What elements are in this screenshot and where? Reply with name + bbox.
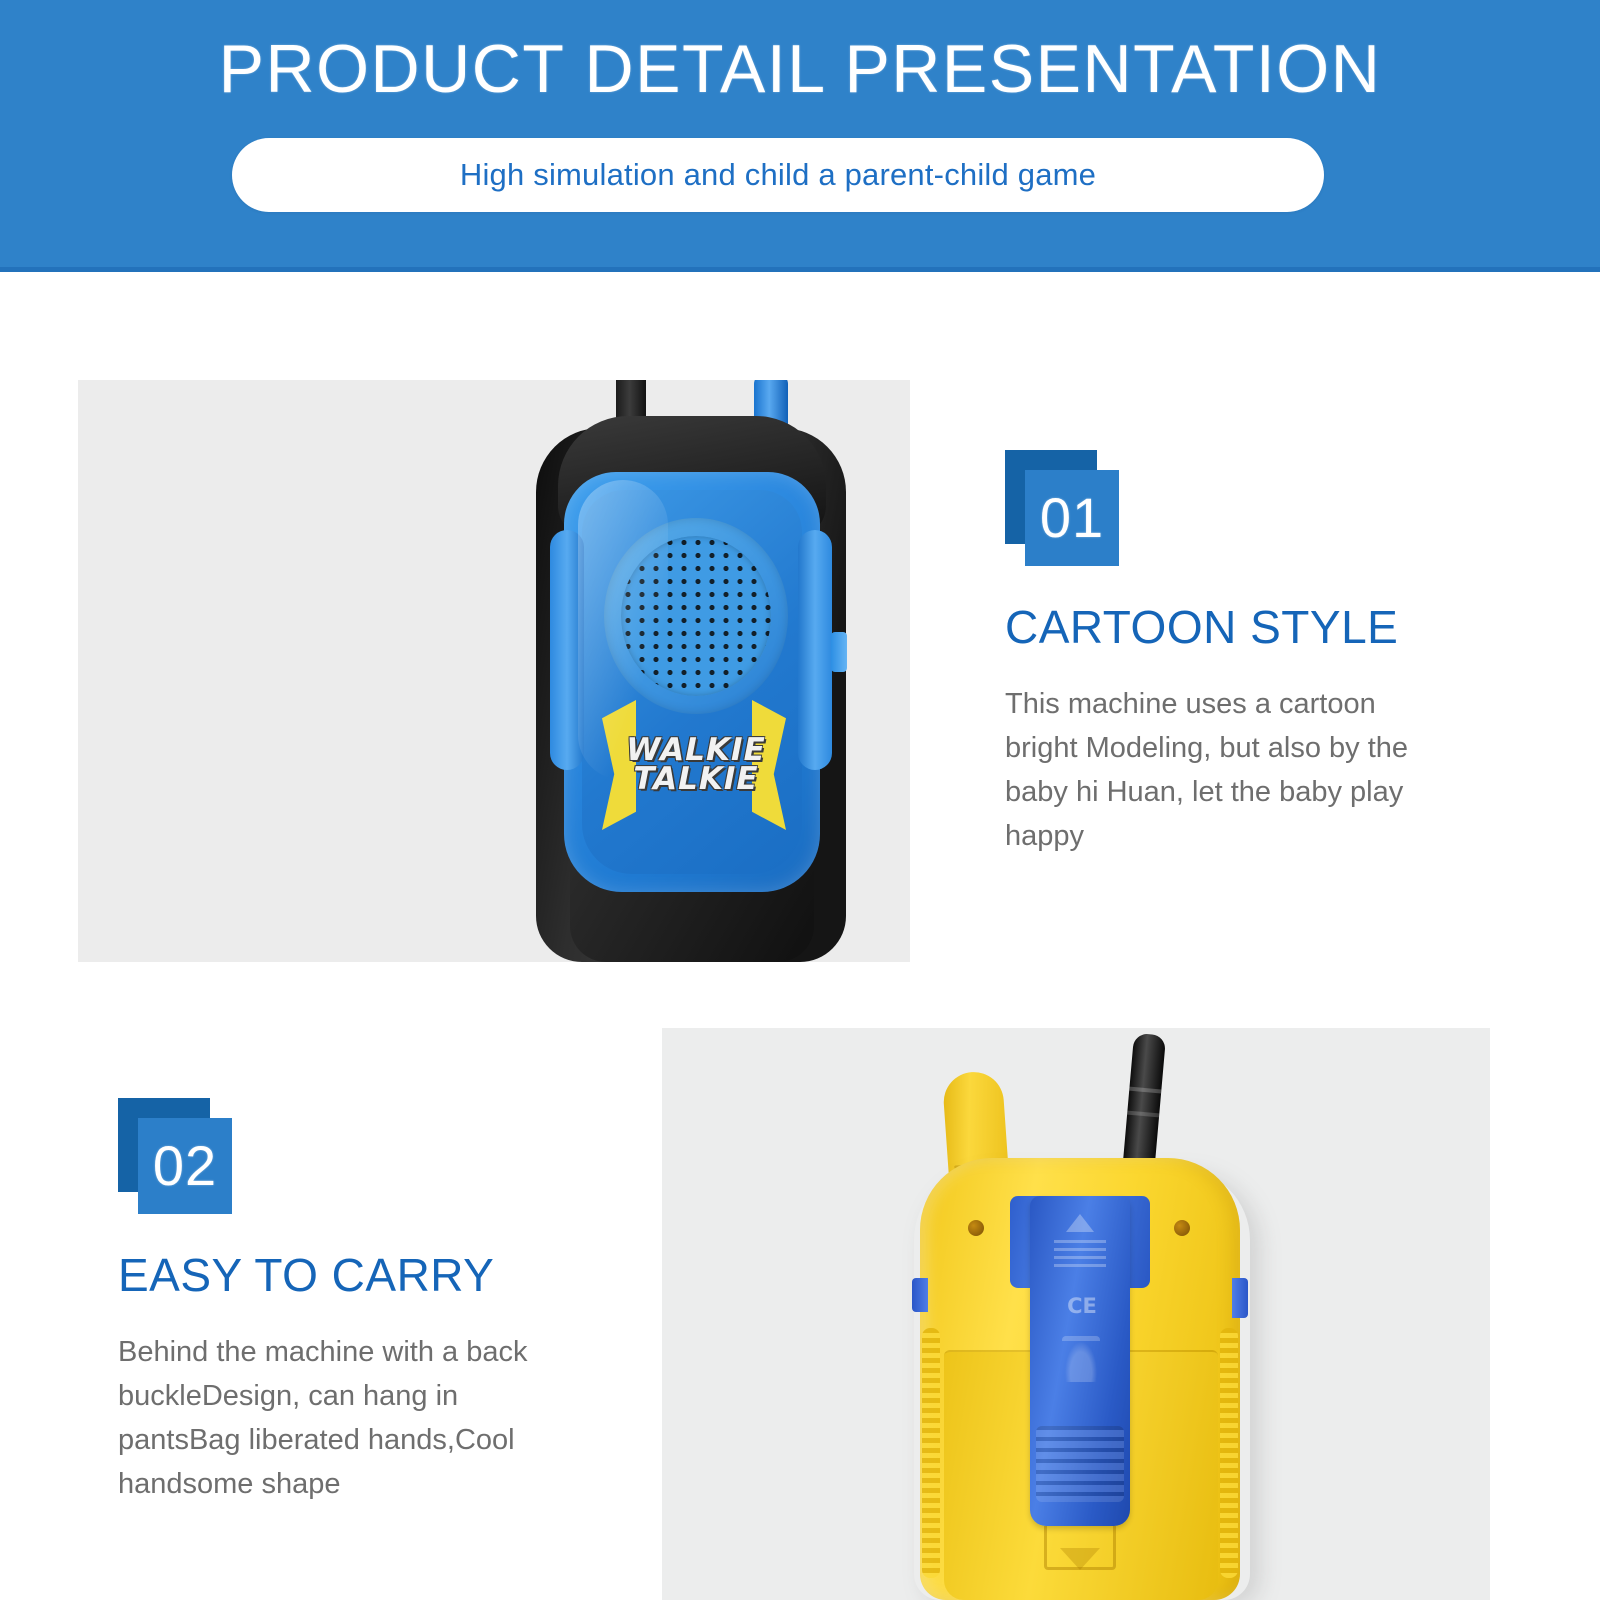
side-grip-right xyxy=(1220,1328,1238,1578)
yellow-walkie-talkie-illustration: CE xyxy=(884,1028,1314,1600)
subtitle-text: High simulation and child a parent-child… xyxy=(460,157,1096,193)
page-header: PRODUCT DETAIL PRESENTATION High simulat… xyxy=(0,0,1600,272)
product-logo-line2: TALKIE xyxy=(596,765,796,794)
screw-left-icon xyxy=(968,1220,984,1236)
feature-body-01: This machine uses a cartoon bright Model… xyxy=(1005,682,1455,858)
feature-body-02: Behind the machine with a back buckleDes… xyxy=(118,1330,538,1506)
side-button-right xyxy=(1232,1278,1248,1318)
product-photo-blue-walkie-talkie: WALKIE TALKIE xyxy=(78,380,910,962)
clip-ridge-bars xyxy=(1054,1240,1106,1270)
side-button xyxy=(831,632,847,672)
ce-marking-icon: CE xyxy=(1056,1294,1108,1318)
feature-number-badge-01: 01 xyxy=(1005,450,1119,566)
speaker-bezel xyxy=(604,518,788,714)
screw-right-icon xyxy=(1174,1220,1190,1236)
black-antenna-icon xyxy=(1122,1033,1166,1177)
speaker-grille-icon xyxy=(621,536,771,696)
subtitle-pill: High simulation and child a parent-child… xyxy=(232,138,1324,212)
antenna-segment xyxy=(1127,1111,1159,1118)
open-direction-arrow-icon xyxy=(1060,1548,1100,1570)
page-title: PRODUCT DETAIL PRESENTATION xyxy=(0,30,1600,108)
side-button-left xyxy=(912,1278,928,1312)
feature-heading-02: EASY TO CARRY xyxy=(118,1248,588,1302)
clip-triangle-icon xyxy=(1066,1214,1094,1232)
feature-block-02: 02 EASY TO CARRY Behind the machine with… xyxy=(118,1098,588,1506)
product-photo-yellow-walkie-talkie: CE xyxy=(662,1028,1490,1600)
waste-bin-symbol-icon xyxy=(1062,1336,1100,1382)
badge-front-square: 01 xyxy=(1025,470,1119,566)
badge-number: 01 xyxy=(1040,490,1104,546)
faceplate-rail-right xyxy=(798,530,832,770)
badge-number: 02 xyxy=(153,1138,217,1194)
feature-block-01: 01 CARTOON STYLE This machine uses a car… xyxy=(1005,450,1475,858)
product-logo: WALKIE TALKIE xyxy=(596,736,796,795)
faceplate-rail-left xyxy=(550,530,584,770)
blue-walkie-talkie-illustration: WALKIE TALKIE xyxy=(486,380,906,962)
side-grip-left xyxy=(922,1328,940,1578)
feature-heading-01: CARTOON STYLE xyxy=(1005,600,1475,654)
antenna-segment xyxy=(1129,1087,1161,1094)
badge-front-square: 02 xyxy=(138,1118,232,1214)
feature-number-badge-02: 02 xyxy=(118,1098,232,1214)
clip-grip-ridges xyxy=(1036,1426,1124,1502)
